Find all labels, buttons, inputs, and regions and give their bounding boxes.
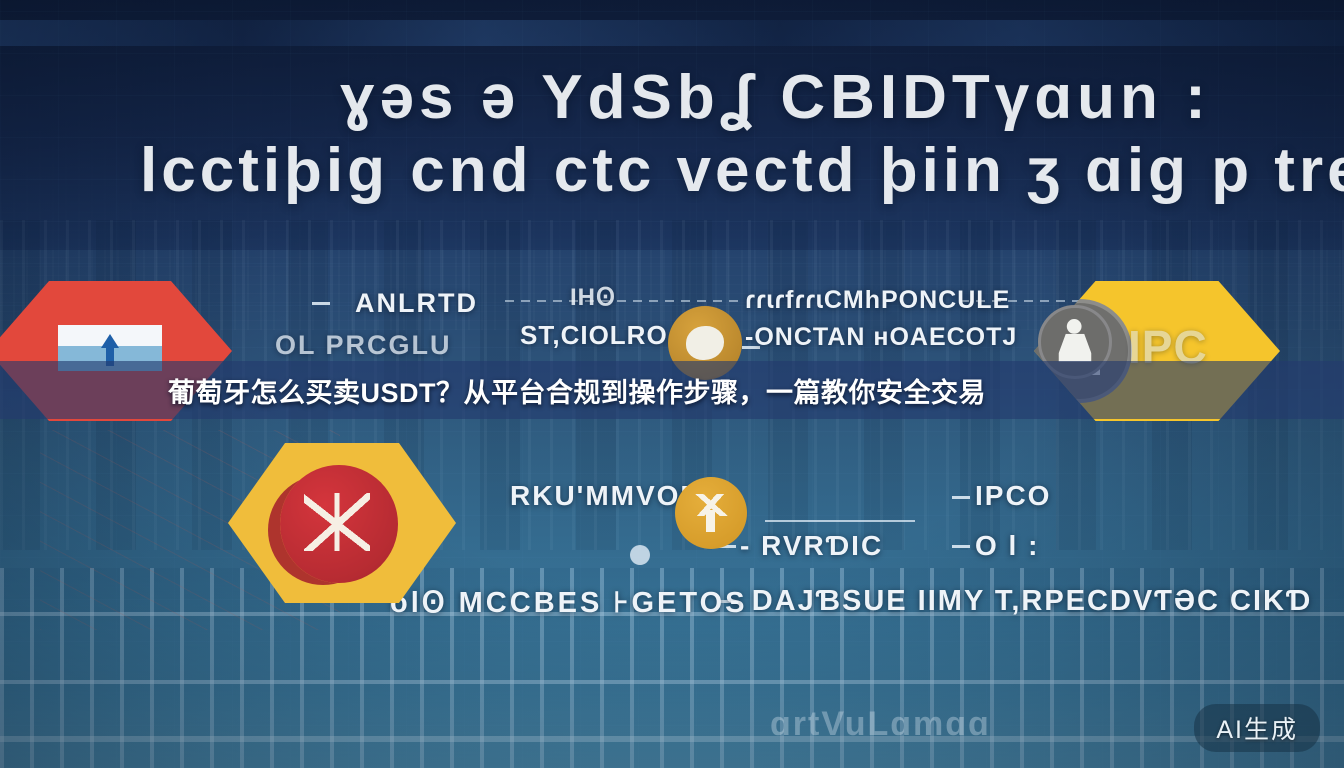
dash-mark-5 (952, 496, 970, 499)
ghost-label-f1: olꙨ MCCBES ⊦GETOS (390, 585, 747, 620)
ghost-label-f2: - DAJƁSUE IIMY T,RPECDVƬƏC CIKƊ (730, 585, 1312, 618)
ghost-headline-line-1: ɣəs ə YdSbʆ CBIDTγɑun : (340, 62, 1211, 133)
ghost-label-c2: -ONCTAN ʜOAECOTJ (745, 323, 1017, 352)
gold-abstract-glyph (690, 492, 732, 534)
ghost-label-e2: O l : (975, 530, 1039, 562)
ghost-label-c1: ɾɾɩɾfɾɾɩCMhPONCULE (745, 286, 1010, 315)
title-overlay-band: 葡萄牙怎么买卖USDT？从平台合规到操作步骤，一篇教你安全交易 (0, 361, 1344, 419)
ghost-label-a2: OL PRCGLU (275, 330, 452, 361)
ghost-label-d2: - RVRƊIC (740, 530, 883, 562)
page-title: 葡萄牙怎么买卖USDT？从平台合规到操作步骤，一篇教你安全交易 (168, 371, 986, 410)
dashed-connector-1 (505, 300, 745, 302)
ghost-label-b1: IHꙨ (570, 283, 616, 312)
ghost-label-a1: ANLRTD (355, 288, 478, 319)
ghost-headline-line-2: lcctiþig cnd ctc vectd þiin ʒ ɑig p tret… (140, 135, 1344, 206)
bottom-faint-ghost-text: ɑrtVuLɑmɑɑ (770, 705, 991, 744)
gold-circle-glyph-icon (675, 477, 747, 549)
dash-mark-1 (312, 302, 330, 305)
red-circular-emblem-icon (280, 465, 398, 583)
gold-circle-blob-glyph (686, 326, 724, 360)
ghost-label-e1: IPCO (975, 480, 1051, 512)
ai-generated-watermark: AI生成 (1194, 704, 1320, 752)
article-cover-image: ɣəs ə YdSbʆ CBIDTγɑun : lcctiþig cnd ctc… (0, 0, 1344, 768)
solid-connector-3 (765, 520, 915, 522)
dash-mark-4 (952, 545, 970, 548)
node-dot (630, 545, 650, 565)
crest-figure-glyph-small (1057, 319, 1093, 365)
